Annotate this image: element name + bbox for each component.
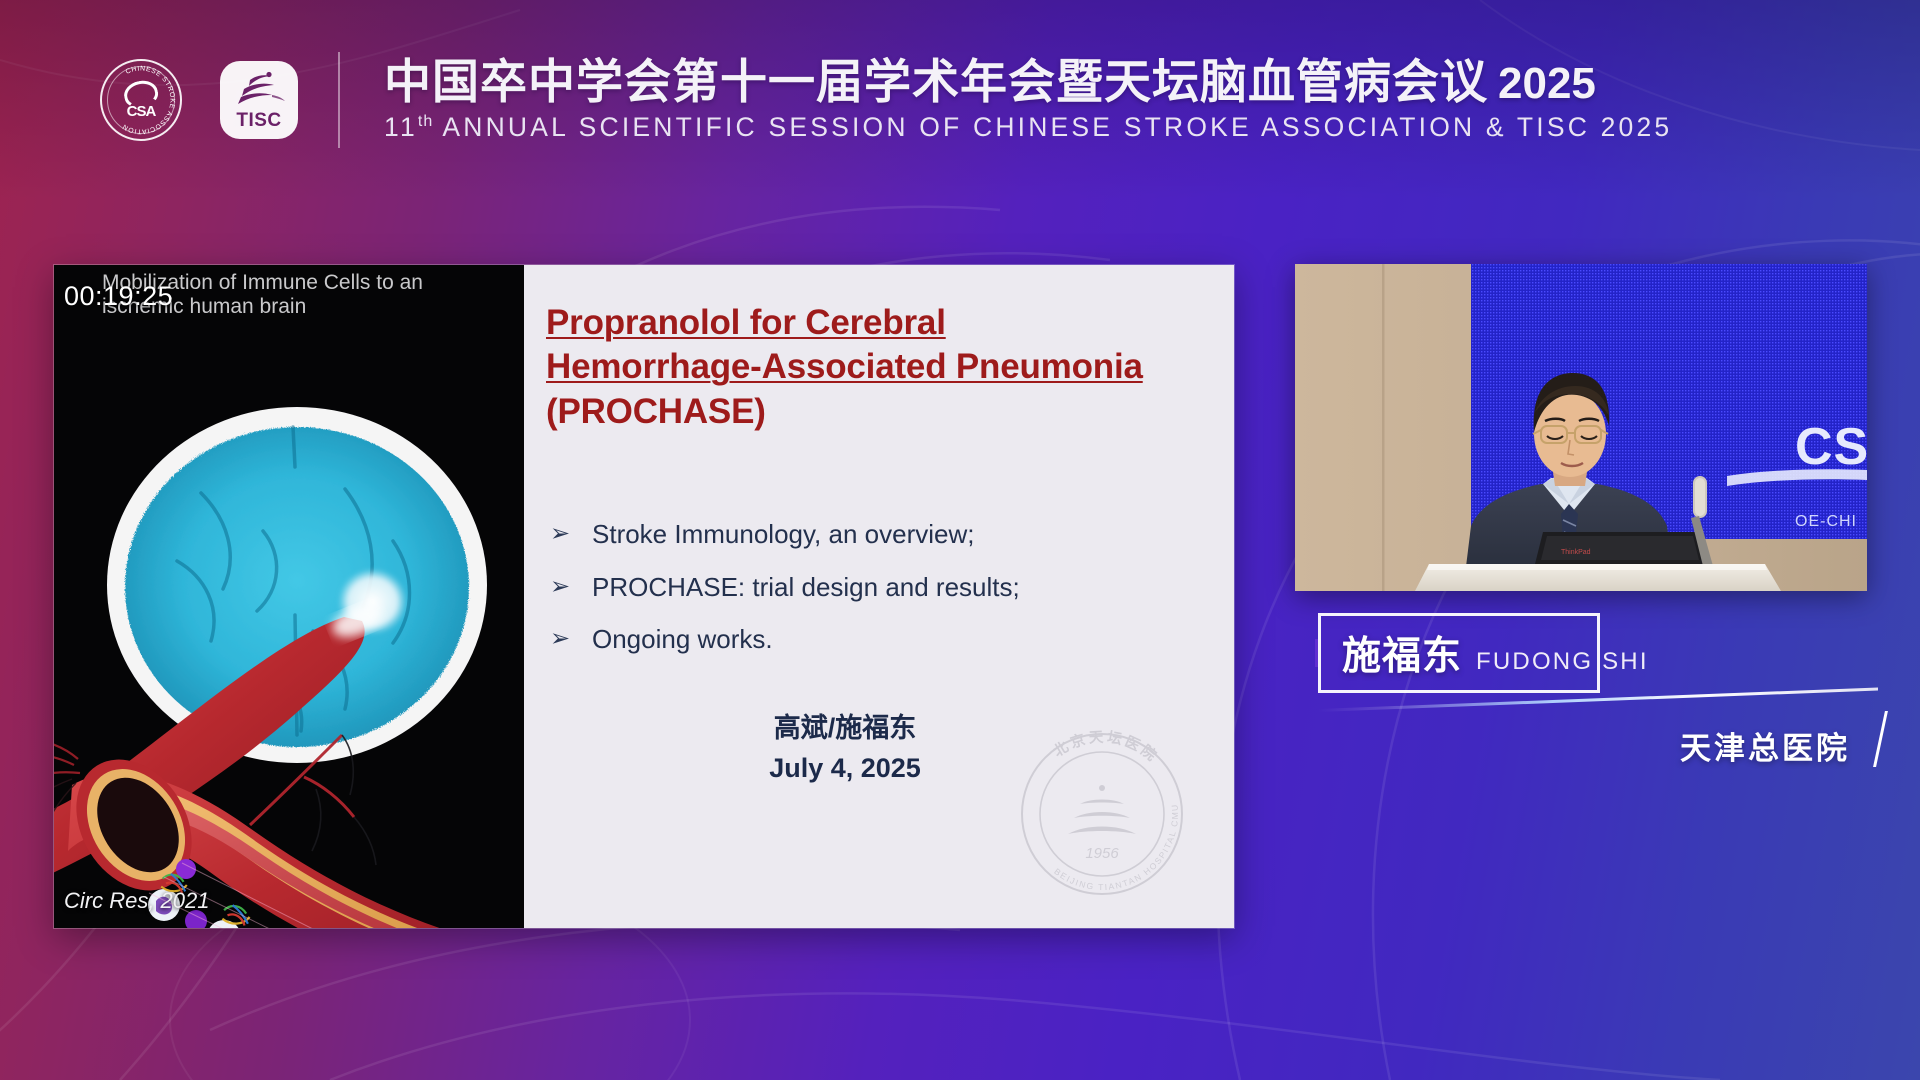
bullet-arrow-icon: ➢ <box>550 518 566 549</box>
speaker-video-frame: CSA OE-CHI <box>1295 264 1867 591</box>
bullet-text: Ongoing works. <box>592 623 773 656</box>
list-item: ➢ Ongoing works. <box>546 623 1204 656</box>
speaker-organization: 天津总医院 <box>1680 723 1850 768</box>
header-divider <box>338 52 340 148</box>
tisc-logo-icon: TISC <box>220 61 298 139</box>
bullet-text: Stroke Immunology, an overview; <box>592 518 974 551</box>
csa-logo-icon: CHINESE STROKE ASSOCIATION CSA <box>100 59 182 141</box>
tisc-logo-label: TISC <box>236 110 281 132</box>
slide-date: July 4, 2025 <box>546 748 1144 789</box>
slide-title-line-1: Propranolol for Cerebral <box>546 301 1204 345</box>
event-header: CHINESE STROKE ASSOCIATION CSA TISC <box>0 0 1920 200</box>
tisc-brush-icon <box>232 71 286 111</box>
header-title-en-sup: th <box>418 114 433 131</box>
speaker-name-group: 施福东 FUDONG SHI <box>1342 625 1649 681</box>
bullet-arrow-icon: ➢ <box>550 571 566 602</box>
header-title-cn: 中国卒中学会第十一届学术年会暨天坛脑血管病会议2025 <box>384 57 1672 108</box>
presentation-timer: 00:19:25 <box>64 281 173 312</box>
header-title-year: 2025 <box>1498 59 1596 108</box>
header-titles: 中国卒中学会第十一届学术年会暨天坛脑血管病会议2025 11th ANNUAL … <box>384 57 1672 144</box>
watermark-year: 1956 <box>1085 845 1119 862</box>
header-title-cn-text: 中国卒中学会第十一届学术年会暨天坛脑血管病会议 <box>384 55 1488 108</box>
slide-bullet-list: ➢ Stroke Immunology, an overview; ➢ PROC… <box>546 518 1204 656</box>
list-item: ➢ Stroke Immunology, an overview; <box>546 518 1204 551</box>
led-wall-logo-sub: OE-CHI <box>1795 513 1857 530</box>
header-title-en-prefix: 11 <box>384 112 418 142</box>
svg-text:BEIJING TIANTAN HOSPITAL CMU: BEIJING TIANTAN HOSPITAL CMU <box>1052 803 1180 892</box>
list-item: ➢ PROCHASE: trial design and results; <box>546 571 1204 604</box>
slide-title-line-1-text: Propranolol for Cerebral <box>546 303 946 342</box>
bullet-text: PROCHASE: trial design and results; <box>592 571 1020 604</box>
speaker-name-en: FUDONG SHI <box>1476 648 1649 676</box>
presentation-slide[interactable]: Mobilization of Immune Cells to an ische… <box>54 265 1234 928</box>
slide-figure: Mobilization of Immune Cells to an ische… <box>54 265 524 928</box>
name-plate-accent-dash <box>1315 639 1318 667</box>
conference-broadcast-screen: CHINESE STROKE ASSOCIATION CSA TISC <box>0 0 1920 1080</box>
speaker-name-cn: 施福东 <box>1342 625 1462 681</box>
figure-citation: Circ Res, 2021 <box>64 888 210 914</box>
speaker-video-feed[interactable]: CSA OE-CHI <box>1295 264 1867 591</box>
slide-content: Propranolol for Cerebral Hemorrhage-Asso… <box>524 265 1234 928</box>
slide-authors: 高斌/施福东 <box>546 708 1144 749</box>
slide-title-line-2-text: Hemorrhage-Associated Pneumonia <box>546 347 1143 386</box>
slide-title: Propranolol for Cerebral Hemorrhage-Asso… <box>546 301 1204 434</box>
header-title-en: 11th ANNUAL SCIENTIFIC SESSION OF CHINES… <box>384 112 1672 143</box>
speaker-name-plate: 施福东 FUDONG SHI 天津总医院 <box>1318 613 1878 773</box>
slide-title-line-2: Hemorrhage-Associated Pneumonia <box>546 345 1204 389</box>
bullet-arrow-icon: ➢ <box>550 623 566 654</box>
led-wall-logo: CSA <box>1795 418 1867 476</box>
slide-byline: 高斌/施福东 July 4, 2025 <box>546 708 1204 789</box>
slide-title-line-3: (PROCHASE) <box>546 390 1204 434</box>
svg-text:ThinkPad: ThinkPad <box>1561 549 1591 556</box>
csa-logo-core: CSA <box>118 77 164 123</box>
brain-ct-illustration <box>54 265 524 928</box>
header-title-en-text: ANNUAL SCIENTIFIC SESSION OF CHINESE STR… <box>442 112 1672 142</box>
watermark-en-text: BEIJING TIANTAN HOSPITAL CMU <box>1052 803 1180 892</box>
